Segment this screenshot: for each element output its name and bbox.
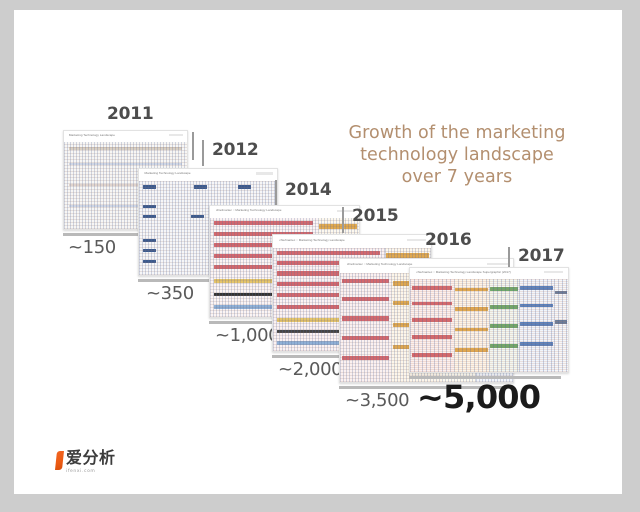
thumbnail-column — [410, 279, 454, 372]
landscape-thumbnail-2017[interactable]: chiefmartec :: Marketing Technology Land… — [409, 267, 569, 373]
thumbnail-column — [489, 279, 519, 372]
category-block — [342, 279, 389, 283]
logo-subtext: ifenxi.com — [66, 469, 116, 474]
category-block — [412, 302, 452, 306]
thumbnail-column — [554, 279, 568, 372]
slide-group-2017: 2017 chiefmartec :: Marketing Technology… — [409, 242, 640, 482]
category-block — [342, 336, 389, 340]
category-block — [490, 305, 517, 309]
category-block — [412, 335, 452, 339]
screenshot-root: Growth of the marketing technology lands… — [0, 0, 640, 512]
slide-canvas: Growth of the marketing technology lands… — [14, 10, 622, 494]
category-block — [455, 328, 487, 332]
flame-icon — [55, 451, 64, 470]
count-label-2017: ~5,000 — [417, 378, 540, 416]
category-block — [520, 342, 552, 346]
category-block — [342, 297, 389, 301]
logo-grid-texture — [454, 279, 489, 372]
count-label-2015: ~2,000 — [278, 359, 342, 380]
page-title-line-1: Growth of the marketing — [332, 122, 582, 144]
logo-grid-texture — [519, 279, 554, 372]
thumbnail-column — [519, 279, 554, 372]
logo-grid-texture — [340, 273, 391, 382]
count-label-2016: ~3,500 — [345, 390, 409, 411]
category-block — [143, 260, 155, 263]
category-block — [520, 304, 552, 308]
count-label-2014: ~1,000 — [215, 325, 279, 346]
category-block — [191, 215, 203, 218]
category-block — [520, 286, 552, 290]
category-block — [455, 288, 487, 292]
thumbnail-title-2015: chiefmartec :: Marketing Technology Land… — [279, 238, 344, 242]
thumbnail-column — [454, 279, 489, 372]
count-label-2012: ~350 — [146, 283, 194, 304]
count-label-2011: ~150 — [68, 237, 116, 258]
category-block — [342, 316, 389, 320]
logo-text-block: 爱分析 ifenxi.com — [66, 450, 116, 474]
category-block — [412, 318, 452, 322]
year-label-2015: 2015 — [352, 206, 399, 226]
category-block — [455, 348, 487, 352]
category-block — [490, 287, 517, 291]
thumbnail-column — [340, 273, 391, 382]
category-block — [555, 291, 568, 295]
page-title-line-2: technology landscape — [332, 144, 582, 166]
thumbnail-title-2017: chiefmartec :: Marketing Technology Land… — [416, 270, 511, 274]
category-block — [143, 239, 155, 242]
year-label-2011: 2011 — [107, 104, 154, 124]
category-block — [194, 185, 206, 188]
category-block — [490, 344, 517, 348]
category-block — [490, 324, 517, 328]
year-tick-2012 — [202, 140, 204, 166]
thumbnail-corner-mark-2017 — [544, 271, 563, 273]
category-block — [143, 215, 155, 218]
category-block — [412, 286, 452, 290]
category-block — [520, 322, 552, 326]
category-block — [342, 356, 389, 360]
year-label-2017: 2017 — [518, 246, 565, 266]
thumbnail-title-2016: chiefmartec :: Marketing Technology Land… — [347, 262, 412, 266]
category-block — [412, 353, 452, 357]
thumbnail-title-2012: Marketing Technology Landscape — [145, 171, 191, 175]
year-label-2012: 2012 — [212, 140, 259, 160]
category-block — [143, 205, 155, 208]
category-block — [143, 249, 155, 252]
logo-grid-texture — [410, 279, 454, 372]
thumbnail-body-2017 — [410, 279, 568, 372]
category-block — [455, 307, 487, 311]
thumbnail-title-2011: Marketing Technology Landscape — [69, 133, 115, 137]
category-block — [555, 320, 568, 324]
brand-logo[interactable]: 爱分析 ifenxi.com — [56, 450, 116, 474]
logo-wordmark: 爱分析 — [66, 448, 116, 467]
year-label-2014: 2014 — [285, 180, 332, 200]
category-block — [143, 185, 155, 188]
